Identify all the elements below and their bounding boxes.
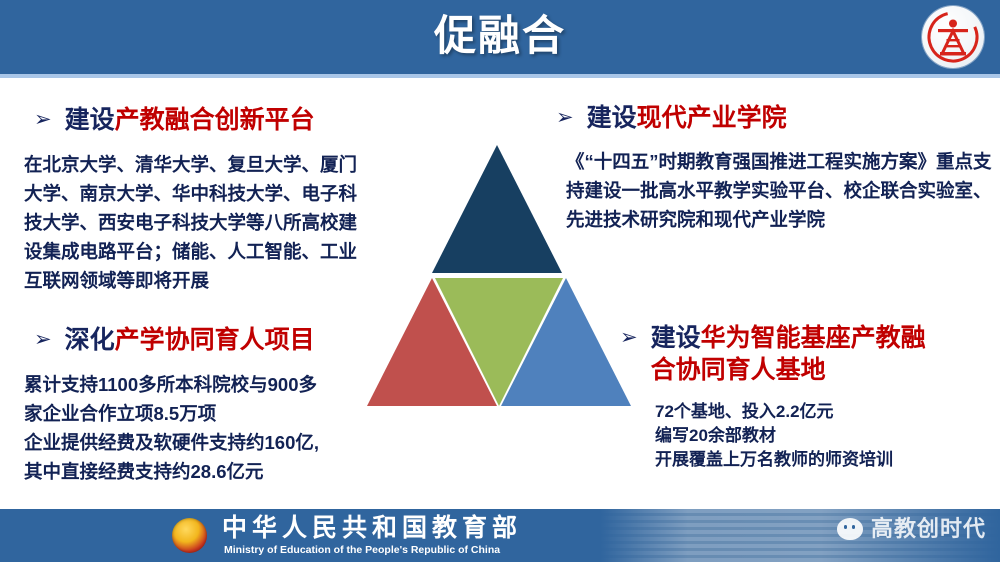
bullet-arrow-icon: ➢ [556, 102, 574, 132]
section-heading-huawei-intelligent-base: ➢ 建设华为智能基座产教融合协同育人基地 [620, 322, 950, 386]
ministry-name-cn: 中华人民共和国教育部 [222, 515, 522, 543]
ministry-name-en: Ministry of Education of the People's Re… [224, 543, 500, 557]
heading-prefix: 建设 [651, 324, 701, 352]
section-heading-modern-industry-college: ➢ 建设现代产业学院 [556, 102, 986, 134]
national-emblem-icon [172, 518, 207, 553]
section-body-modern-industry-college: 《“十四五”时期教育强国推进工程实施方案》重点支持建设一批高水平教学实验平台、校… [566, 147, 994, 234]
heading-prefix: 建设 [65, 106, 115, 134]
watermark-text: 高教创时代 [871, 514, 986, 544]
bullet-arrow-icon: ➢ [34, 104, 52, 134]
slide-footer: 中华人民共和国教育部 Ministry of Education of the … [0, 509, 1000, 562]
heading-prefix: 深化 [65, 326, 115, 354]
heading-emphasis: 产教融合创新平台 [115, 106, 315, 134]
body-line: 累计支持1100多所本科院校与900多 [24, 370, 384, 399]
heading-emphasis: 现代产业学院 [637, 104, 787, 132]
section-heading-industry-education-platform: ➢ 建设产教融合创新平台 [34, 104, 434, 136]
slide-root: 促融合 ➢ 建设产教融合创新平台 在北京大学、清华大学、复旦大学、厦门大学、南京… [0, 0, 1000, 562]
watermark: 高教创时代 [837, 514, 986, 544]
body-line: 开展覆盖上万名教师的师资培训 [655, 448, 995, 472]
university-emblem-icon [922, 6, 984, 68]
section-body-collaborative-education-program: 累计支持1100多所本科院校与900多 家企业合作立项8.5万项 企业提供经费及… [24, 370, 384, 486]
section-body-huawei-intelligent-base: 72个基地、投入2.2亿元 编写20余部教材 开展覆盖上万名教师的师资培训 [655, 400, 995, 472]
triangle-top-navy [432, 145, 562, 273]
wechat-icon [837, 518, 863, 540]
bullet-arrow-icon: ➢ [620, 322, 638, 352]
body-line: 其中直接经费支持约28.6亿元 [24, 457, 384, 486]
bullet-arrow-icon: ➢ [34, 324, 52, 354]
section-body-industry-education-platform: 在北京大学、清华大学、复旦大学、厦门大学、南京大学、华中科技大学、电子科技大学、… [24, 150, 374, 295]
heading-emphasis: 产学协同育人项目 [115, 326, 315, 354]
university-emblem-svg [924, 8, 982, 66]
body-line: 编写20余部教材 [655, 424, 995, 448]
page-title: 促融合 [0, 8, 1000, 64]
body-line: 企业提供经费及软硬件支持约160亿, [24, 428, 384, 457]
heading-prefix: 建设 [587, 104, 637, 132]
body-line: 家企业合作立项8.5万项 [24, 399, 384, 428]
header-underline [0, 74, 1000, 78]
body-line: 72个基地、投入2.2亿元 [655, 400, 995, 424]
